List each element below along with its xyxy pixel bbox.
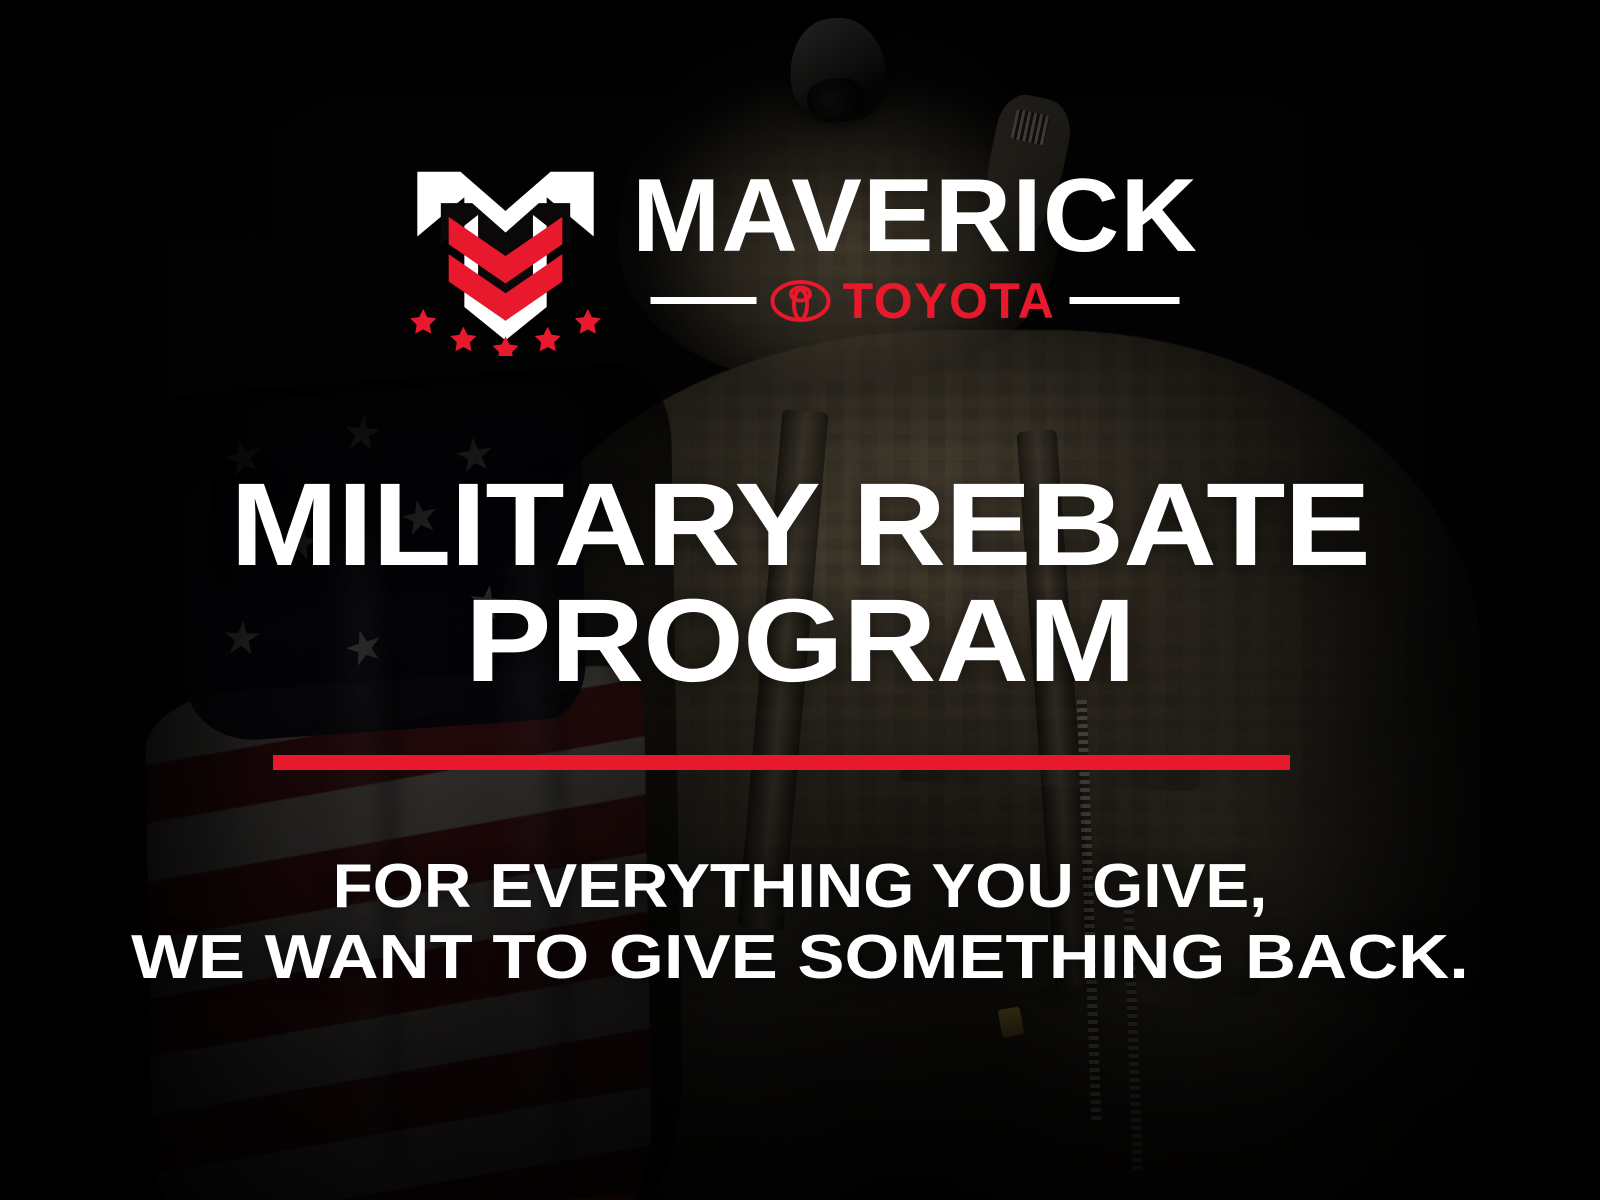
brand-name: MAVERICK bbox=[632, 168, 1198, 266]
page-title: MILITARY REBATE PROGRAM bbox=[0, 468, 1600, 699]
red-divider-bar bbox=[273, 755, 1290, 770]
military-rebate-poster: ★ ★ ★ ★ ★ ★ ★ ★ bbox=[0, 0, 1600, 1200]
headline-line-2: PROGRAM bbox=[0, 584, 1600, 700]
tagline: FOR EVERYTHING YOU GIVE, WE WANT TO GIVE… bbox=[0, 852, 1600, 993]
toyota-ellipses-emblem-icon bbox=[771, 280, 831, 322]
tagline-line-2: WE WANT TO GIVE SOMETHING BACK. bbox=[0, 923, 1600, 994]
poster-content: MAVERICK TOYOTA MILITAR bbox=[0, 0, 1600, 1200]
brand-wordmark: MAVERICK TOYOTA bbox=[638, 160, 1193, 326]
headline-line-1: MILITARY REBATE bbox=[0, 468, 1600, 584]
divider-rule-left bbox=[651, 297, 757, 304]
toyota-lockup: TOYOTA bbox=[771, 276, 1056, 326]
toyota-sub-brand-row: TOYOTA bbox=[638, 276, 1193, 326]
divider-rule-right bbox=[1069, 297, 1179, 304]
tagline-line-1: FOR EVERYTHING YOU GIVE, bbox=[0, 852, 1600, 923]
toyota-sub-brand-label: TOYOTA bbox=[843, 276, 1056, 326]
brand-logo-lockup[interactable]: MAVERICK TOYOTA bbox=[408, 160, 1193, 356]
maverick-chevron-emblem-icon bbox=[408, 160, 604, 356]
